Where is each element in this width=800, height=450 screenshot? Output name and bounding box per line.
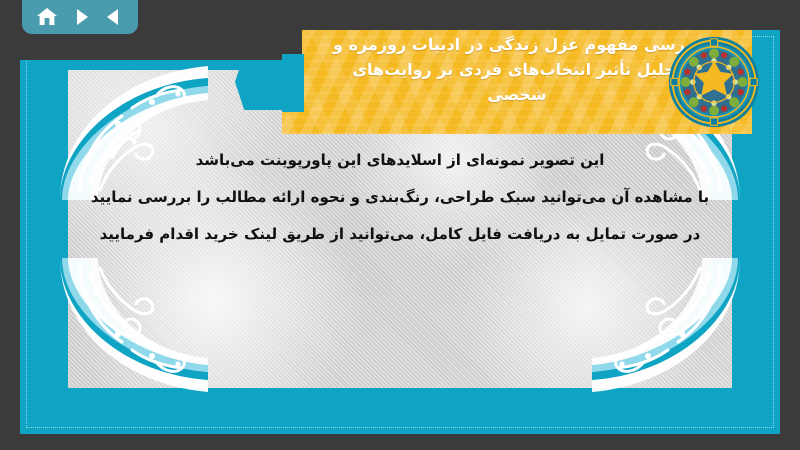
slide-body-text: این تصویر نمونه‌ای از اسلایدهای این پاور… bbox=[80, 142, 720, 253]
right-chrome-bar bbox=[780, 0, 800, 450]
home-icon[interactable] bbox=[36, 7, 58, 27]
body-line-2: با مشاهده آن می‌توانید سبک طراحی، رنگ‌بن… bbox=[80, 179, 720, 216]
next-triangle-icon[interactable] bbox=[71, 7, 91, 27]
title-line-1: بررسی مفهوم غزل زندگی در ادبیات روزمره و bbox=[333, 32, 701, 57]
body-line-3: در صورت تمایل به دریافت فایل کامل، می‌تو… bbox=[80, 216, 720, 253]
title-line-3: شخصی bbox=[487, 82, 546, 107]
left-chrome-bar bbox=[0, 0, 20, 450]
banner-dark-tail bbox=[20, 30, 302, 60]
slide-viewer: بررسی مفهوم غزل زندگی در ادبیات روزمره و… bbox=[0, 0, 800, 450]
bottom-chrome-bar bbox=[0, 434, 800, 450]
prev-triangle-icon[interactable] bbox=[104, 7, 124, 27]
islamic-medallion-ornament bbox=[668, 36, 760, 128]
banner-left-tab bbox=[282, 54, 304, 112]
slide-navigation-bar[interactable] bbox=[22, 0, 138, 34]
slide-canvas: بررسی مفهوم غزل زندگی در ادبیات روزمره و… bbox=[20, 30, 780, 434]
title-line-2: تحلیل تأثیر انتخاب‌های فردی بر روایت‌های bbox=[352, 57, 681, 82]
body-line-1: این تصویر نمونه‌ای از اسلایدهای این پاور… bbox=[80, 142, 720, 179]
